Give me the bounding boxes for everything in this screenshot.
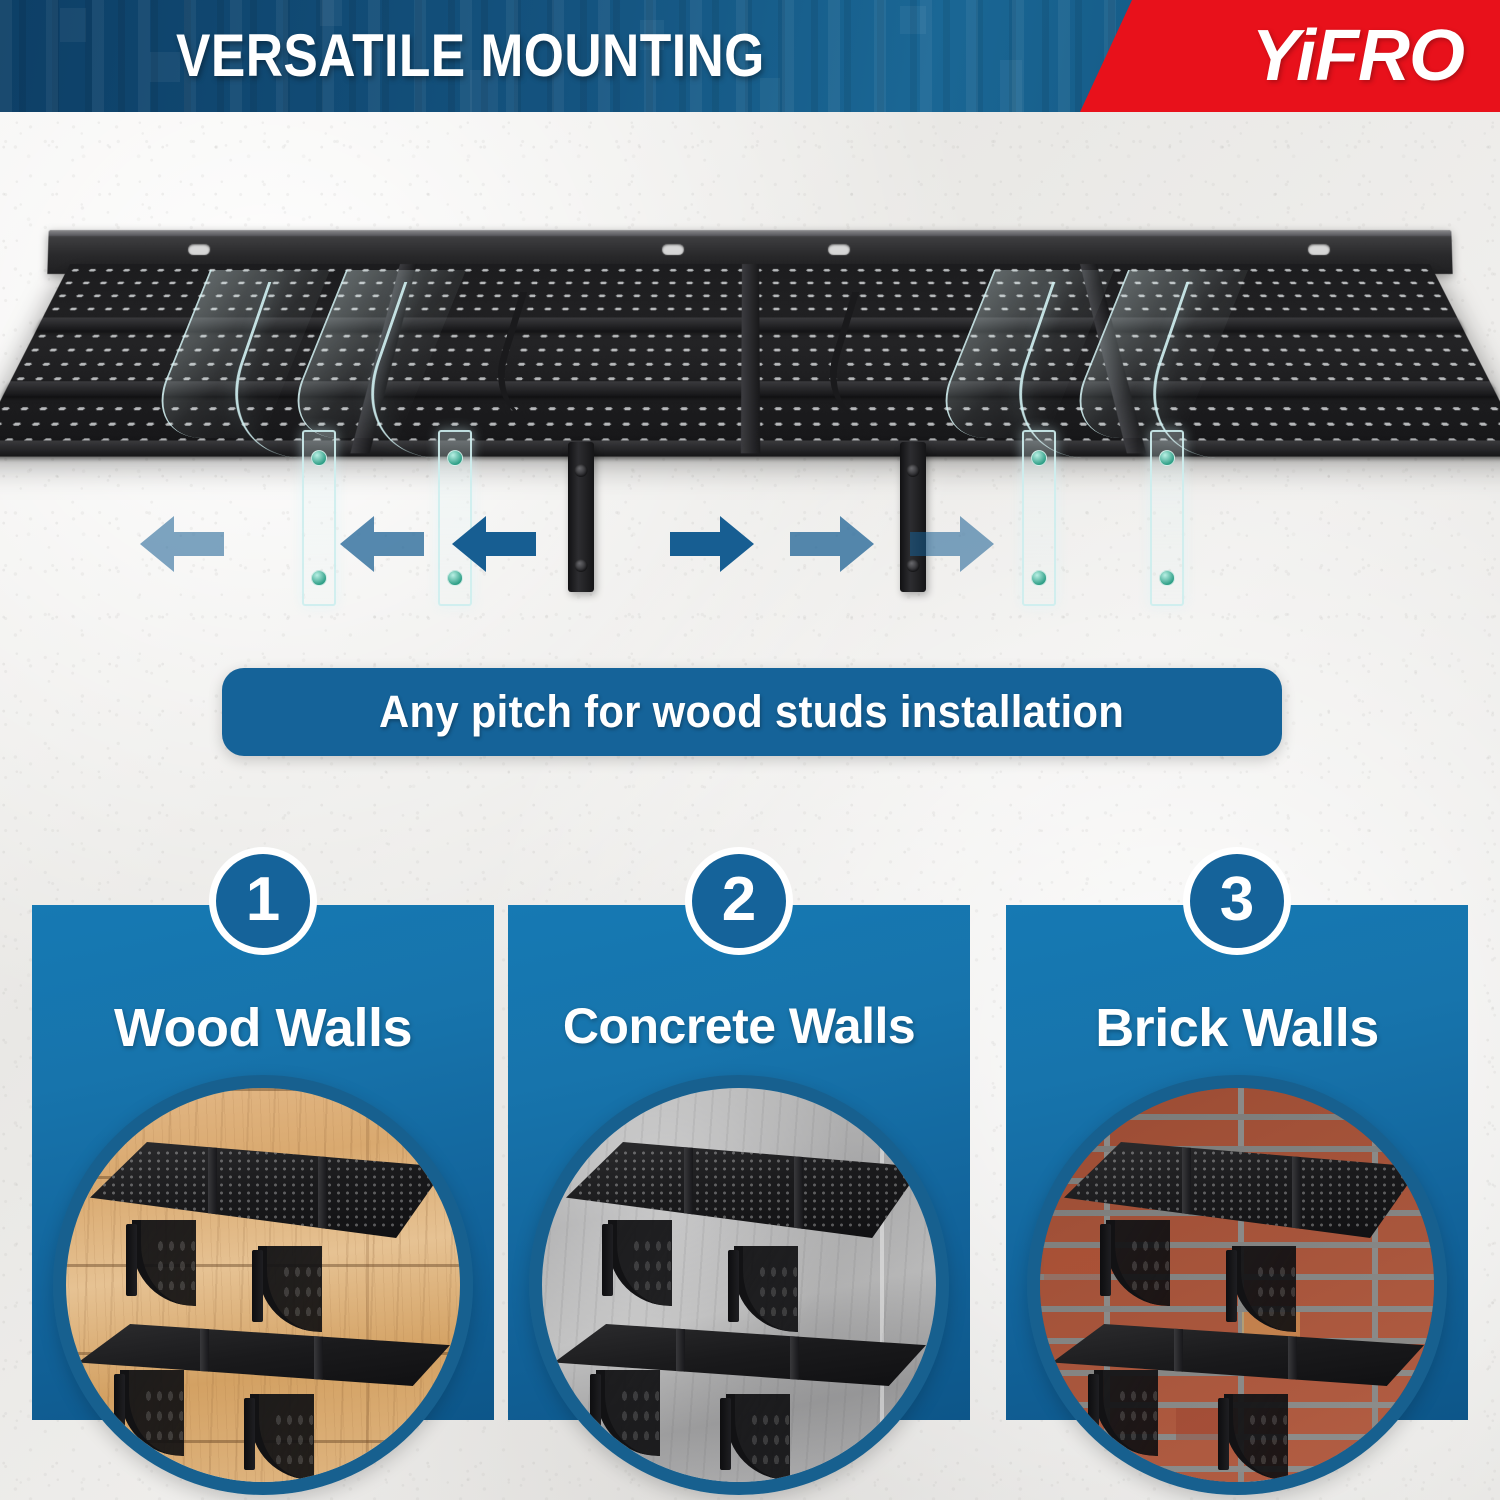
- step-badge-1: 1: [209, 847, 317, 955]
- brick-wall-photo-icon: [1027, 1075, 1447, 1495]
- slide-arrow-left-inner: [452, 512, 536, 576]
- wall-type-panel-concrete[interactable]: 2 Concrete Walls: [508, 905, 970, 1420]
- ghost-bracket-4: [1150, 430, 1184, 606]
- wall-type-panel-brick[interactable]: 3 Brick Walls: [1006, 905, 1468, 1420]
- step-badge-3: 3: [1183, 847, 1291, 955]
- wood-wall-photo-icon: [53, 1075, 473, 1495]
- slide-arrow-right-inner: [670, 512, 754, 576]
- slide-arrow-right-mid: [790, 512, 874, 576]
- panel-title-concrete: Concrete Walls: [508, 997, 970, 1055]
- slide-arrow-left-outer: [140, 512, 224, 576]
- page-title: VERSATILE MOUNTING: [176, 26, 765, 86]
- brand-logo: YiFRO: [1252, 20, 1464, 92]
- wall-type-panel-wood[interactable]: 1 Wood Walls: [32, 905, 494, 1420]
- step-number-1: 1: [246, 869, 280, 931]
- step-number-2: 2: [722, 869, 756, 931]
- step-number-3: 3: [1220, 869, 1254, 931]
- shelf-bracket-left: [568, 442, 594, 592]
- caption-text: Any pitch for wood studs installation: [379, 686, 1124, 738]
- concrete-wall-photo-icon: [529, 1075, 949, 1495]
- panel-title-wood: Wood Walls: [32, 997, 494, 1059]
- ghost-bracket-3: [1022, 430, 1056, 606]
- header-banner: VERSATILE MOUNTING YiFRO: [0, 0, 1500, 112]
- slide-arrow-right-outer: [910, 512, 994, 576]
- slide-arrow-left-mid: [340, 512, 424, 576]
- wall-type-panel-group: 1 Wood Walls: [0, 830, 1500, 1430]
- caption-banner: Any pitch for wood studs installation: [222, 668, 1282, 756]
- ghost-bracket-1: [302, 430, 336, 606]
- hero-product-illustration: [0, 112, 1500, 652]
- panel-title-brick: Brick Walls: [1006, 997, 1468, 1059]
- step-badge-2: 2: [685, 847, 793, 955]
